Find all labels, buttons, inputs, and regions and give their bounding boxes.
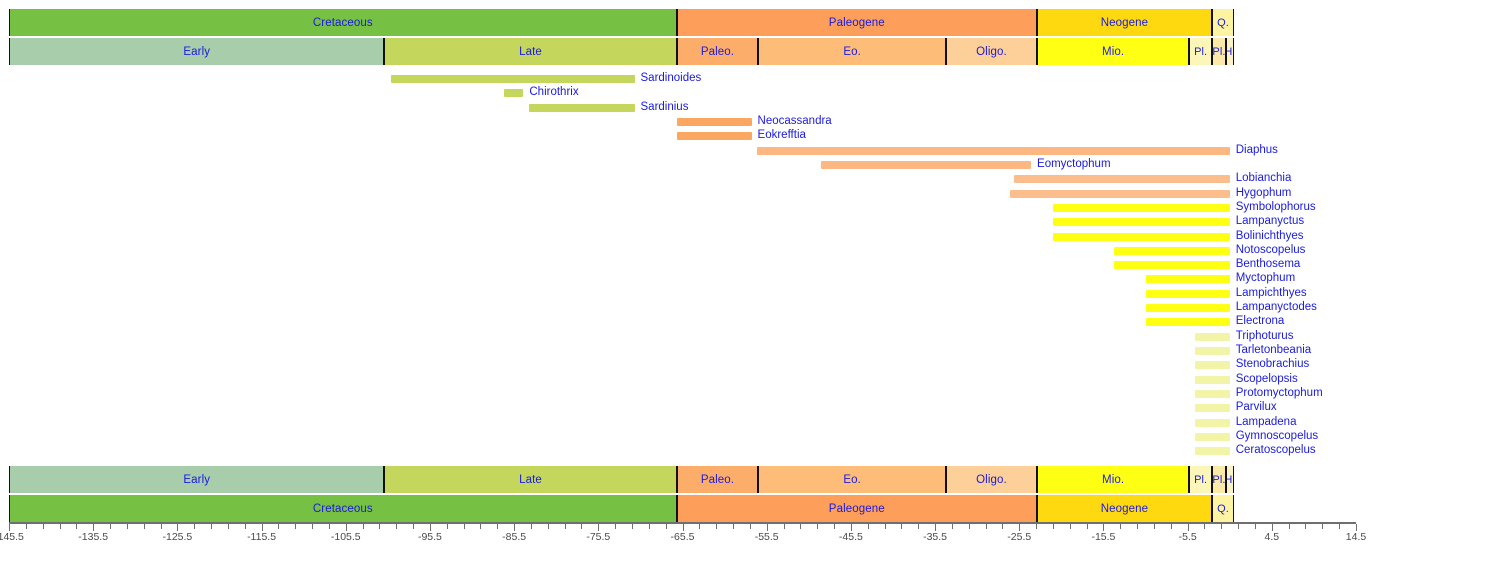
band-label: Pl. [1212, 46, 1225, 58]
band-label: H. [1226, 46, 1234, 58]
epoch-late-1[interactable]: Late [384, 466, 676, 493]
taxon-label-lampanyctodes: Lampanyctodes [1236, 302, 1317, 313]
band-label: Q. [1217, 17, 1229, 29]
axis-tick-minor [581, 524, 582, 529]
epoch-pl-7[interactable]: Pl. [1212, 38, 1226, 65]
axis-tick-minor [901, 524, 902, 529]
taxon-label-scopelopsis: Scopelopsis [1236, 374, 1298, 385]
axis-tick-major [851, 524, 852, 531]
band-label: Paleo. [701, 46, 734, 58]
axis-tick-minor [464, 524, 465, 529]
axis-tick-minor [161, 524, 162, 529]
range-bar-ceratoscopelus[interactable] [1195, 447, 1230, 455]
range-bar-notoscopelus[interactable] [1114, 247, 1230, 255]
range-bar-eomyctophum[interactable] [821, 161, 1031, 169]
epoch-eo-3[interactable]: Eo. [758, 38, 946, 65]
range-bar-lobianchia[interactable] [1014, 175, 1230, 183]
band-label: Late [519, 46, 542, 58]
range-bar-stenobrachius[interactable] [1195, 361, 1230, 369]
taxon-label-symbolophorus: Symbolophorus [1236, 202, 1316, 213]
axis-tick-minor [531, 524, 532, 529]
range-bar-myctophum[interactable] [1146, 275, 1230, 283]
taxon-label-protomyctophum: Protomyctophum [1236, 388, 1323, 399]
period-neogene-2[interactable]: Neogene [1037, 9, 1212, 36]
axis-tick-minor [447, 524, 448, 529]
axis-tick-minor [1255, 524, 1256, 529]
axis-tick-major [1188, 524, 1189, 531]
epoch-pl-6[interactable]: Pl. [1189, 466, 1212, 493]
axis-tick-label: -15.5 [1091, 531, 1115, 543]
epoch-band-bottom: EarlyLatePaleo.Eo.Oligo.Mio.Pl.Pl.H. [9, 466, 1356, 493]
axis-tick-minor [245, 524, 246, 529]
axis-tick-minor [1036, 524, 1037, 529]
axis-tick-label: -125.5 [162, 531, 192, 543]
axis-tick-minor [76, 524, 77, 529]
band-label: Cretaceous [313, 17, 373, 29]
taxon-label-lampichthyes: Lampichthyes [1236, 288, 1307, 299]
axis-tick-minor [750, 524, 751, 529]
period-cretaceous-0[interactable]: Cretaceous [9, 495, 677, 522]
band-label: Q. [1217, 503, 1229, 515]
axis-tick-major [598, 524, 599, 531]
axis-tick-minor [834, 524, 835, 529]
axis-tick-minor [110, 524, 111, 529]
period-neogene-2[interactable]: Neogene [1037, 495, 1212, 522]
axis-tick-label: -35.5 [923, 531, 947, 543]
axis-tick-major [177, 524, 178, 531]
axis-tick-minor [800, 524, 801, 529]
epoch-early-0[interactable]: Early [9, 466, 384, 493]
taxon-label-tarletonbeania: Tarletonbeania [1236, 345, 1311, 356]
axis-tick-minor [1221, 524, 1222, 529]
axis-tick-minor [363, 524, 364, 529]
axis-tick-minor [1339, 524, 1340, 529]
epoch-eo-3[interactable]: Eo. [758, 466, 946, 493]
axis-tick-major [430, 524, 431, 531]
axis-tick-major [683, 524, 684, 531]
range-bar-neocassandra[interactable] [677, 118, 752, 126]
axis-tick-minor [885, 524, 886, 529]
axis-tick-label: -95.5 [418, 531, 442, 543]
axis-tick-minor [43, 524, 44, 529]
axis-tick-minor [312, 524, 313, 529]
range-bar-parvilux[interactable] [1195, 404, 1230, 412]
axis-tick-label: -55.5 [755, 531, 779, 543]
period-band-top: CretaceousPaleogeneNeogeneQ. [9, 9, 1356, 36]
axis-tick-minor [497, 524, 498, 529]
taxon-label-ceratoscopelus: Ceratoscopelus [1236, 445, 1316, 456]
range-bar-benthosema[interactable] [1114, 261, 1230, 269]
axis-tick-minor [666, 524, 667, 529]
axis-tick-minor [716, 524, 717, 529]
epoch-pl-6[interactable]: Pl. [1189, 38, 1212, 65]
taxon-label-lampanyctus: Lampanyctus [1236, 216, 1304, 227]
range-bar-lampanyctodes[interactable] [1146, 304, 1230, 312]
axis-tick-major [1103, 524, 1104, 531]
taxon-label-neocassandra: Neocassandra [758, 116, 832, 127]
axis-tick-minor [60, 524, 61, 529]
axis-tick-minor [733, 524, 734, 529]
axis-tick-minor [969, 524, 970, 529]
axis-tick-minor [127, 524, 128, 529]
axis-tick-minor [1053, 524, 1054, 529]
axis-tick-minor [548, 524, 549, 529]
range-bar-lampadena[interactable] [1195, 419, 1230, 427]
epoch-mio-5[interactable]: Mio. [1037, 38, 1189, 65]
epoch-h-8[interactable]: H. [1226, 38, 1234, 65]
band-label: Paleogene [829, 503, 885, 515]
axis-tick-minor [952, 524, 953, 529]
axis-tick-minor [379, 524, 380, 529]
axis-tick-major [767, 524, 768, 531]
taxon-label-parvilux: Parvilux [1236, 402, 1277, 413]
axis-tick-minor [1204, 524, 1205, 529]
band-label: Paleogene [829, 17, 885, 29]
axis-tick-label: -45.5 [839, 531, 863, 543]
axis-tick-label: 14.5 [1346, 531, 1366, 543]
taxon-label-stenobrachius: Stenobrachius [1236, 359, 1310, 370]
axis-tick-minor [194, 524, 195, 529]
range-bar-diaphus[interactable] [757, 147, 1230, 155]
range-bar-eokrefftia[interactable] [677, 132, 752, 140]
axis-tick-minor [632, 524, 633, 529]
axis-tick-minor [1087, 524, 1088, 529]
range-bar-sardinoides[interactable] [391, 75, 634, 83]
axis-tick-minor [329, 524, 330, 529]
range-bar-electrona[interactable] [1146, 318, 1230, 326]
axis-tick-label: -115.5 [247, 531, 276, 543]
taxon-label-electrona: Electrona [1236, 316, 1285, 327]
axis-tick-label: -25.5 [1007, 531, 1031, 543]
epoch-h-8[interactable]: H. [1226, 466, 1234, 493]
range-bar-gymnoscopelus[interactable] [1195, 433, 1230, 441]
epoch-band-top: EarlyLatePaleo.Eo.Oligo.Mio.Pl.Pl.H. [9, 38, 1356, 65]
taxon-label-bolinichthyes: Bolinichthyes [1236, 231, 1304, 242]
axis-tick-label: -75.5 [586, 531, 610, 543]
period-band-bottom: CretaceousPaleogeneNeogeneQ. [9, 495, 1356, 522]
axis-tick-major [1272, 524, 1273, 531]
band-label: Oligo. [976, 474, 1007, 486]
axis-tick-minor [144, 524, 145, 529]
taxon-label-sardinoides: Sardinoides [641, 73, 702, 84]
band-label: H. [1226, 474, 1234, 486]
period-q-3[interactable]: Q. [1212, 495, 1234, 522]
range-bar-tarletonbeania[interactable] [1195, 347, 1230, 355]
axis-tick-minor [211, 524, 212, 529]
period-paleogene-1[interactable]: Paleogene [677, 495, 1037, 522]
axis-tick-minor [1154, 524, 1155, 529]
axis-tick-minor [1238, 524, 1239, 529]
band-label: Early [183, 46, 210, 58]
period-cretaceous-0[interactable]: Cretaceous [9, 9, 677, 36]
axis-tick-minor [396, 524, 397, 529]
range-bar-chirothrix[interactable] [504, 89, 523, 97]
band-label: Early [183, 474, 210, 486]
taxon-label-lampadena: Lampadena [1236, 417, 1297, 428]
axis-tick-minor [1002, 524, 1003, 529]
axis-tick-minor [413, 524, 414, 529]
band-label: Late [519, 474, 542, 486]
band-label: Eo. [843, 46, 861, 58]
axis-tick-major [514, 524, 515, 531]
taxon-label-triphoturus: Triphoturus [1236, 331, 1294, 342]
axis-tick-major [262, 524, 263, 531]
axis-tick-minor [868, 524, 869, 529]
axis-tick-label: -145.5 [0, 531, 24, 543]
range-bar-lampanyctus[interactable] [1053, 218, 1230, 226]
axis-tick-label: -135.5 [78, 531, 108, 543]
axis-tick-minor [986, 524, 987, 529]
axis-tick-label: 4.5 [1265, 531, 1280, 543]
taxon-label-eokrefftia: Eokrefftia [758, 130, 806, 141]
axis-tick-label: -105.5 [331, 531, 361, 543]
axis-tick-minor [1289, 524, 1290, 529]
axis-tick-minor [784, 524, 785, 529]
epoch-early-0[interactable]: Early [9, 38, 384, 65]
axis-tick-minor [649, 524, 650, 529]
range-bar-symbolophorus[interactable] [1053, 204, 1230, 212]
taxon-label-diaphus: Diaphus [1236, 145, 1278, 156]
axis-tick-minor [295, 524, 296, 529]
epoch-mio-5[interactable]: Mio. [1037, 466, 1189, 493]
band-label: Mio. [1102, 474, 1124, 486]
axis-tick-minor [1305, 524, 1306, 529]
epoch-late-1[interactable]: Late [384, 38, 676, 65]
axis-tick-minor [26, 524, 27, 529]
band-label: Pl. [1194, 474, 1207, 486]
axis-tick-minor [615, 524, 616, 529]
timeline-chart: CretaceousPaleogeneNeogeneQ. EarlyLatePa… [0, 0, 1500, 570]
axis-tick-minor [228, 524, 229, 529]
range-bar-protomyctophum[interactable] [1195, 390, 1230, 398]
band-label: Neogene [1101, 503, 1148, 515]
band-label: Pl. [1194, 46, 1207, 58]
band-label: Oligo. [976, 46, 1007, 58]
band-label: Pl. [1212, 474, 1225, 486]
taxon-label-hygophum: Hygophum [1236, 188, 1292, 199]
taxon-label-notoscopelus: Notoscopelus [1236, 245, 1306, 256]
axis-tick-major [9, 524, 10, 531]
axis-tick-minor [1171, 524, 1172, 529]
axis-tick-major [1356, 524, 1357, 531]
axis-tick-minor [817, 524, 818, 529]
taxon-label-myctophum: Myctophum [1236, 273, 1295, 284]
axis-tick-minor [1070, 524, 1071, 529]
axis-tick-minor [565, 524, 566, 529]
range-bar-lampichthyes[interactable] [1146, 290, 1230, 298]
axis-tick-label: -5.5 [1179, 531, 1197, 543]
range-bar-scopelopsis[interactable] [1195, 376, 1230, 384]
range-bar-triphoturus[interactable] [1195, 333, 1230, 341]
axis-tick-major [346, 524, 347, 531]
range-bar-bolinichthyes[interactable] [1053, 233, 1230, 241]
epoch-paleo-2[interactable]: Paleo. [677, 38, 759, 65]
band-label: Paleo. [701, 474, 734, 486]
period-paleogene-1[interactable]: Paleogene [677, 9, 1037, 36]
axis-tick-minor [1120, 524, 1121, 529]
axis-tick-minor [278, 524, 279, 529]
taxon-label-eomyctophum: Eomyctophum [1037, 159, 1111, 170]
band-label: Mio. [1102, 46, 1124, 58]
taxon-label-gymnoscopelus: Gymnoscopelus [1236, 431, 1318, 442]
axis-tick-major [935, 524, 936, 531]
axis-tick-minor [1137, 524, 1138, 529]
axis-tick-label: -65.5 [671, 531, 695, 543]
period-q-3[interactable]: Q. [1212, 9, 1234, 36]
axis-tick-minor [1322, 524, 1323, 529]
taxon-label-benthosema: Benthosema [1236, 259, 1301, 270]
taxon-label-lobianchia: Lobianchia [1236, 173, 1292, 184]
taxon-label-chirothrix: Chirothrix [529, 87, 578, 98]
band-label: Cretaceous [313, 503, 373, 515]
epoch-pl-7[interactable]: Pl. [1212, 466, 1226, 493]
axis-tick-label: -85.5 [502, 531, 526, 543]
taxon-label-sardinius: Sardinius [641, 102, 689, 113]
range-bar-hygophum[interactable] [1010, 190, 1230, 198]
epoch-paleo-2[interactable]: Paleo. [677, 466, 759, 493]
band-label: Neogene [1101, 17, 1148, 29]
axis-tick-minor [699, 524, 700, 529]
range-bar-sardinius[interactable] [529, 104, 634, 112]
axis-tick-minor [480, 524, 481, 529]
band-label: Eo. [843, 474, 861, 486]
epoch-oligo-4[interactable]: Oligo. [946, 38, 1037, 65]
axis-tick-major [93, 524, 94, 531]
axis-tick-minor [918, 524, 919, 529]
axis-tick-major [1019, 524, 1020, 531]
epoch-oligo-4[interactable]: Oligo. [946, 466, 1037, 493]
